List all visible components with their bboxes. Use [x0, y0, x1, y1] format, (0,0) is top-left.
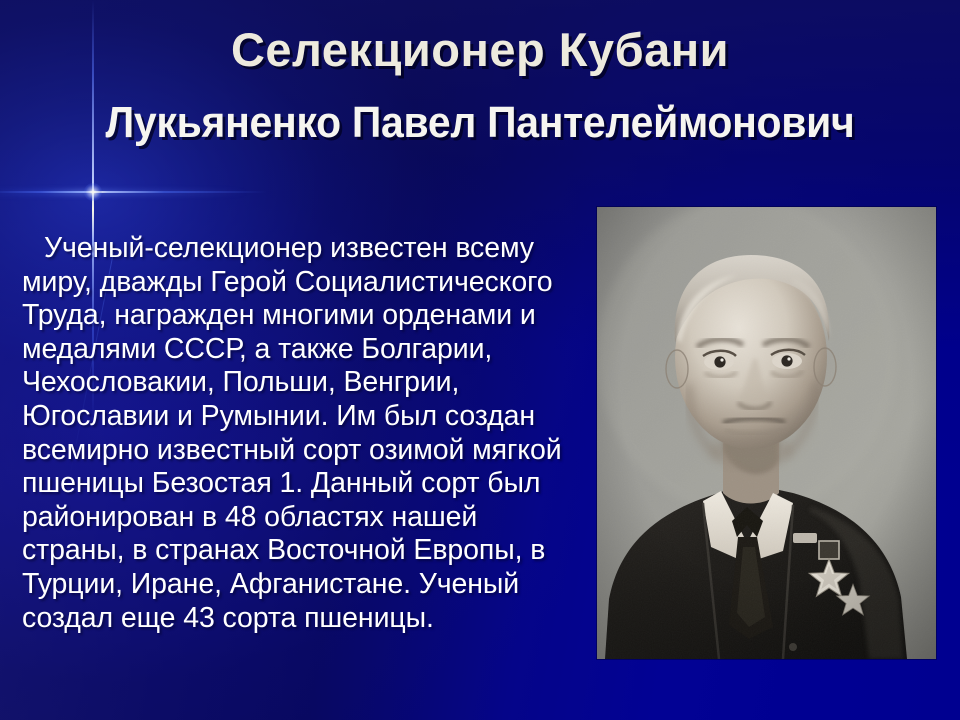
presentation-slide: Селекционер Кубани Лукьяненко Павел Пант…: [0, 0, 960, 720]
slide-title-line1: Селекционер Кубани: [0, 22, 960, 77]
slide-title-line2: Лукьяненко Павел Пантелеймонович: [34, 98, 927, 148]
portrait-photo: [597, 207, 936, 659]
portrait-photo-image: [597, 207, 936, 659]
slide-body-paragraph: Ученый-селекционер известен всему миру, …: [22, 232, 562, 635]
